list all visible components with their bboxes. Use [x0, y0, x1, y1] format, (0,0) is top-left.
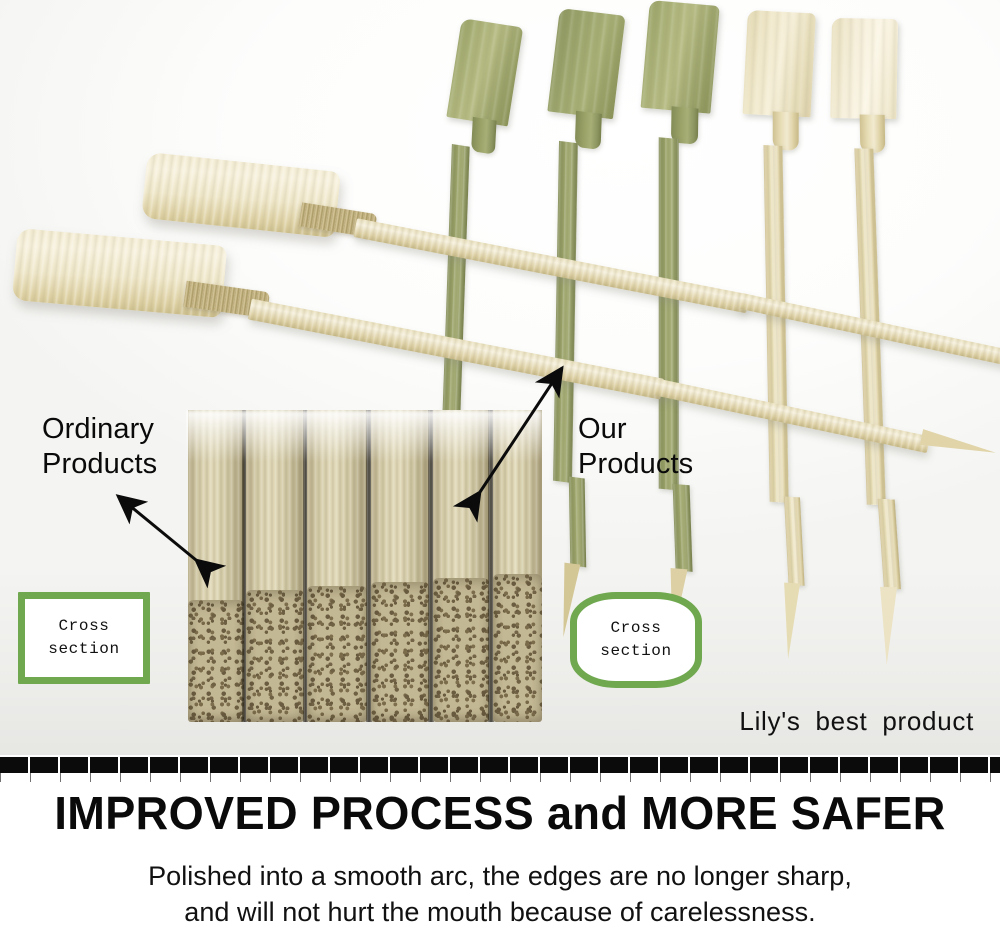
paddle-head — [743, 10, 816, 117]
paddle-head — [547, 8, 625, 119]
cross-section-callout-left: Cross section — [18, 592, 150, 684]
paddle-head — [641, 0, 720, 114]
paddle-neck — [575, 111, 602, 150]
product-infographic: Ordinary Products Our Products Cross sec… — [0, 0, 1000, 937]
our-products-label: Our Products — [578, 412, 693, 483]
divider-tick-marks — [0, 773, 1000, 782]
product-photo: Ordinary Products Our Products Cross sec… — [0, 0, 1000, 755]
paddle-shaft-lower — [569, 477, 586, 568]
inset-top-fade — [186, 410, 542, 462]
paddle-head — [830, 18, 898, 119]
paddle-neck — [860, 114, 886, 152]
cross-section-inset-photo — [186, 410, 542, 722]
subtext: Polished into a smooth arc, the edges ar… — [0, 858, 1000, 930]
cross-section-callout-right: Cross section — [570, 592, 702, 688]
cross-section-label-left: Cross section — [48, 615, 119, 661]
headline: IMPROVED PROCESS and MORE SAFER — [10, 790, 990, 836]
cross-section-label-right: Cross section — [600, 617, 671, 663]
ordinary-products-label: Ordinary Products — [42, 412, 157, 483]
paddle-tip — [879, 587, 897, 665]
brand-text: Lily's best product — [739, 706, 974, 737]
section-divider — [0, 757, 1000, 785]
divider-dashed-bar — [0, 757, 1000, 773]
paddle-shaft-lower — [673, 484, 693, 572]
paddle-neck — [471, 117, 496, 155]
